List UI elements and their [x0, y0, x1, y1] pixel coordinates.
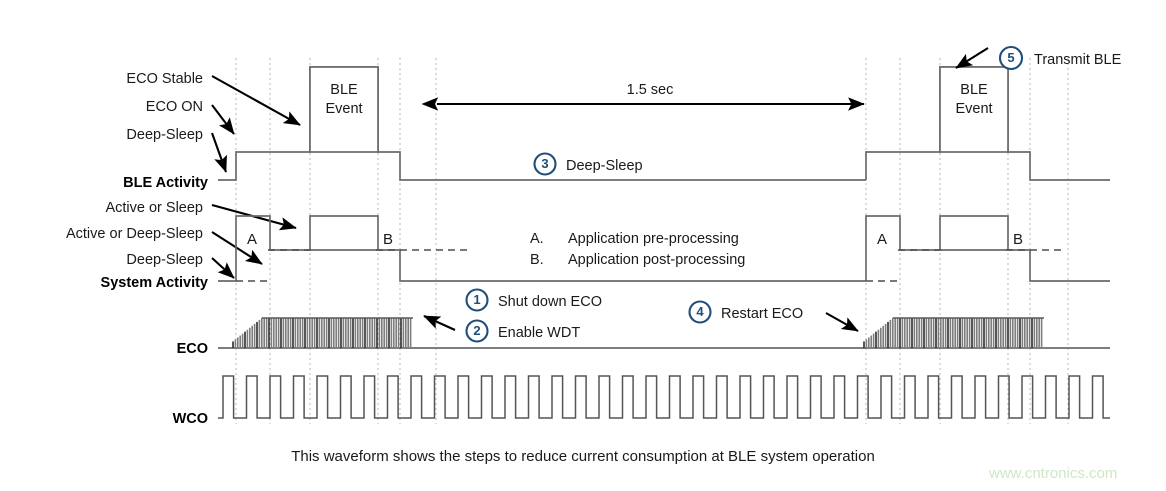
eco-row-label: ECO [177, 341, 208, 357]
ble-event-right-line1: BLE [960, 82, 988, 98]
label-deep-sleep-ble: Deep-Sleep [126, 127, 203, 143]
row-eco: ECO 1 Shut down ECO 2 Enable WDT 4 Resta… [177, 290, 1110, 358]
label-eco-stable: ECO Stable [126, 71, 203, 87]
label-eco-on: ECO ON [146, 99, 203, 115]
step-5-group: 5 Transmit BLE [956, 47, 1122, 69]
legend-a-text: Application pre-processing [568, 231, 739, 247]
waveform-diagram-page: BLE Activity ECO Stable ECO ON Deep-Slee… [0, 0, 1166, 491]
phase-a-right: A [877, 231, 887, 248]
phase-a-left: A [247, 231, 257, 248]
eco-burst-right [864, 318, 1044, 348]
row-ble-activity: BLE Activity ECO Stable ECO ON Deep-Slee… [123, 67, 1110, 191]
step-4-label: Restart ECO [721, 306, 803, 322]
step-4-number: 4 [696, 304, 704, 319]
callout-arrow-deep-sleep-system [212, 258, 234, 278]
step-2-label: Enable WDT [498, 325, 580, 341]
callout-arrow-deep-sleep-ble [212, 133, 226, 172]
eco-burst-left [233, 318, 413, 348]
system-activity-waveform-right-a [866, 216, 1110, 281]
label-active-or-sleep: Active or Sleep [105, 200, 203, 216]
callout-arrow-eco-on [212, 105, 234, 134]
label-deep-sleep-system: Deep-Sleep [126, 252, 203, 268]
system-activity-waveform-left-b [310, 216, 378, 250]
step-1-number: 1 [473, 292, 480, 307]
legend-b-key: B. [530, 252, 544, 268]
ble-event-right-line2: Event [955, 101, 992, 117]
step-5-pointer-arrow [956, 48, 988, 68]
caption: This waveform shows the steps to reduce … [291, 448, 875, 465]
system-activity-waveform-left-a [218, 216, 866, 281]
row-system-activity: System Activity Active or Sleep Active o… [66, 200, 1110, 291]
row-wco: WCO [173, 376, 1110, 427]
ble-activity-row-label: BLE Activity [123, 175, 208, 191]
system-activity-waveform-right-b [940, 216, 1008, 250]
wco-row-label: WCO [173, 411, 208, 427]
watermark: www.cntronics.com [988, 465, 1117, 482]
wco-waveform [218, 376, 1110, 418]
step-1-2-pointer-arrow [424, 316, 455, 330]
step-4-pointer-arrow [826, 313, 858, 331]
phase-b-right: B [1013, 231, 1023, 248]
duration-label: 1.5 sec [627, 82, 674, 98]
timing-diagram: BLE Activity ECO Stable ECO ON Deep-Slee… [0, 0, 1166, 491]
step-2-number: 2 [473, 323, 480, 338]
label-active-or-deep-sleep: Active or Deep-Sleep [66, 226, 203, 242]
legend-a-key: A. [530, 231, 544, 247]
step-1-label: Shut down ECO [498, 294, 602, 310]
ble-event-left-line2: Event [325, 101, 362, 117]
callout-arrow-eco-stable [212, 76, 300, 125]
step-5-number: 5 [1007, 50, 1014, 65]
step-3-number: 3 [541, 156, 548, 171]
ble-event-left-line1: BLE [330, 82, 358, 98]
step-5-label: Transmit BLE [1034, 52, 1122, 68]
phase-b-left: B [383, 231, 393, 248]
system-activity-row-label: System Activity [101, 275, 208, 291]
step-3-label: Deep-Sleep [566, 158, 643, 174]
legend-b-text: Application post-processing [568, 252, 745, 268]
